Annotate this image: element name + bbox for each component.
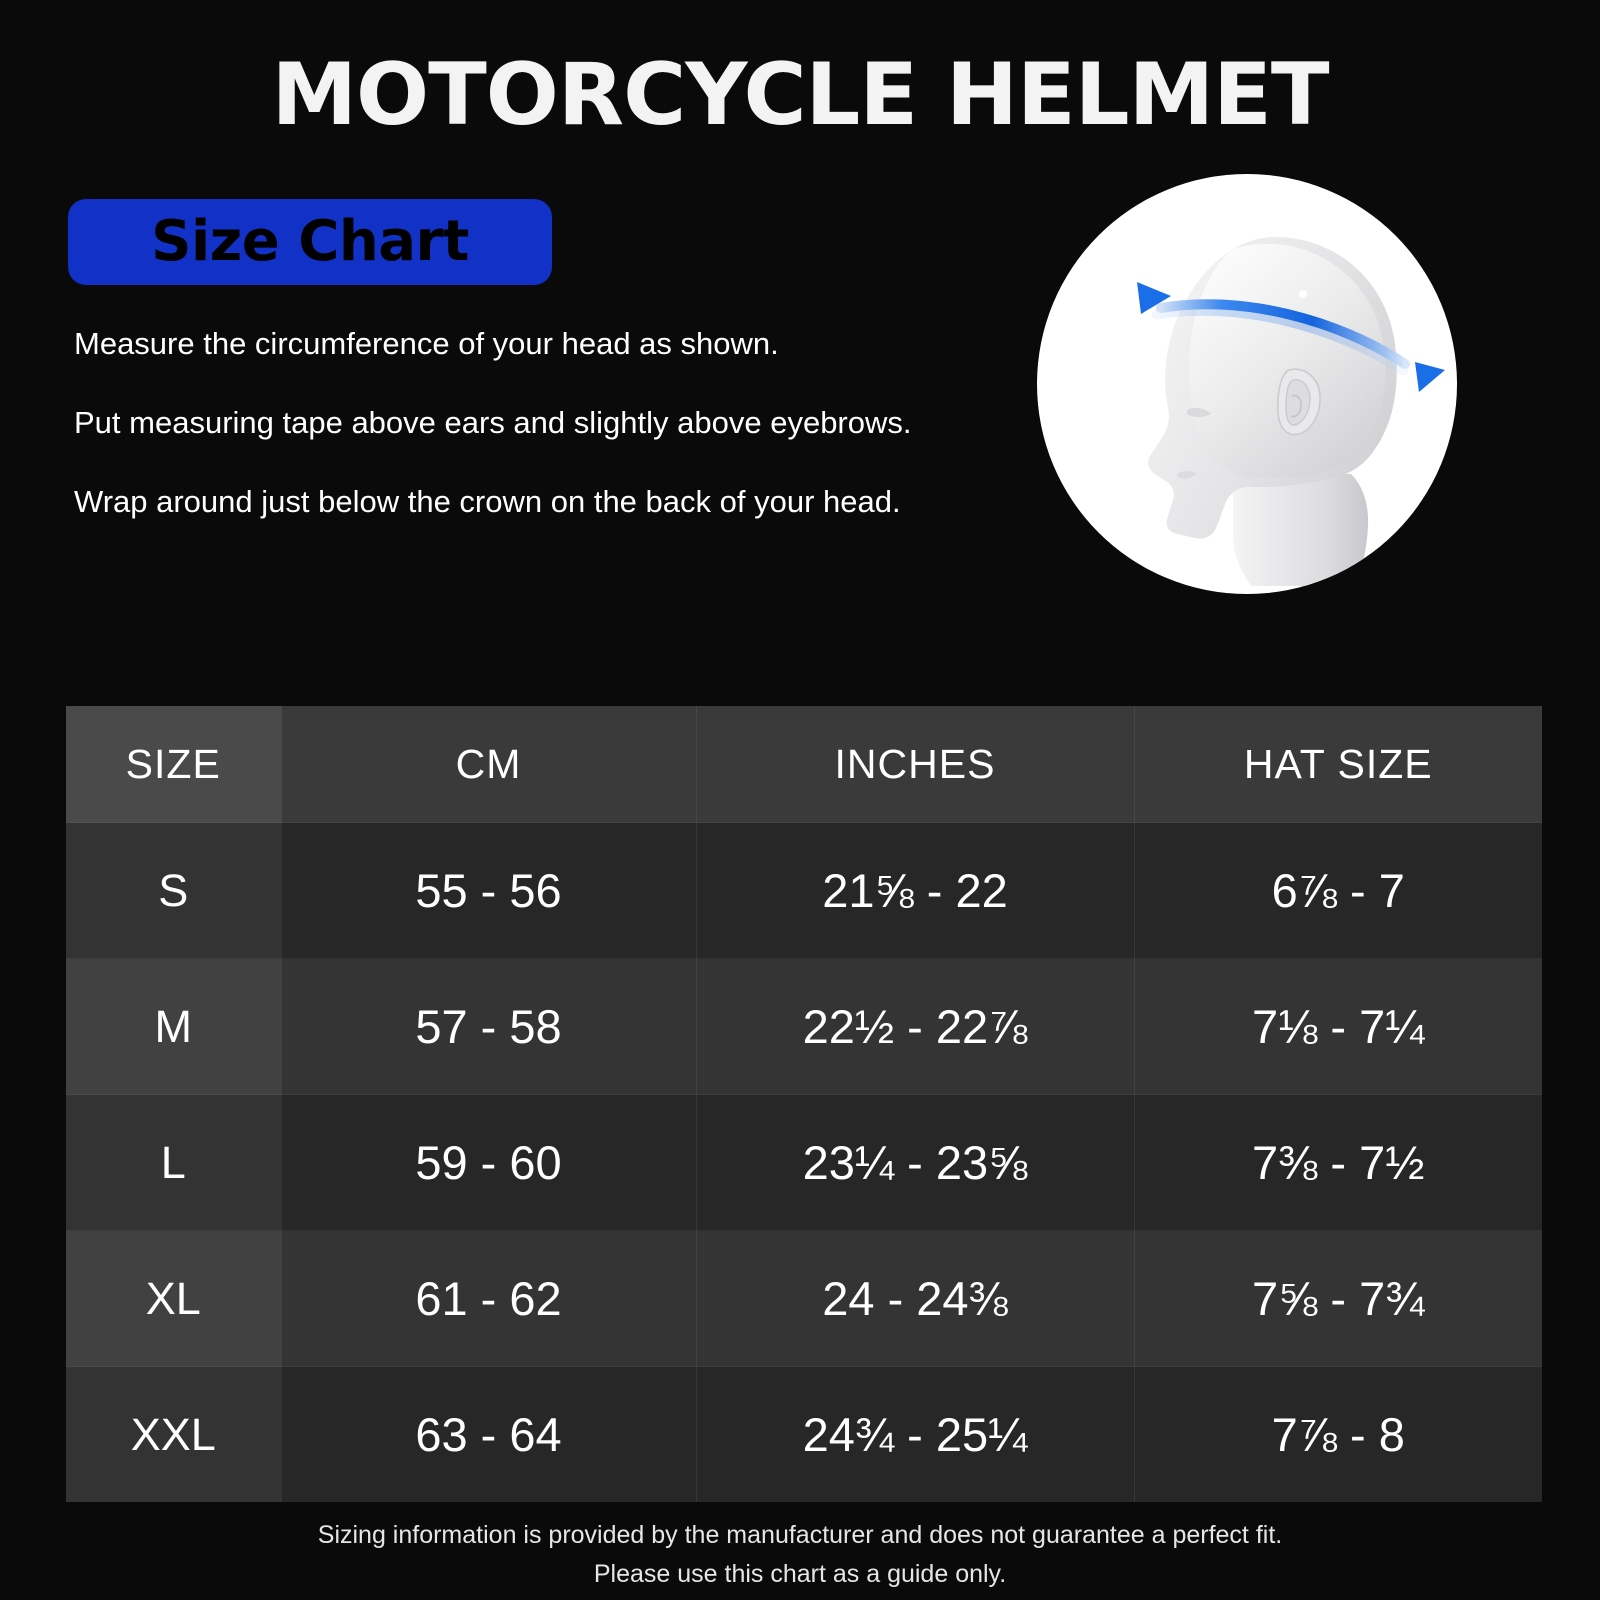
cell-size: L xyxy=(66,1095,281,1231)
size-chart-page: MOTORCYCLE HELMET Size Chart Measure the… xyxy=(0,0,1600,1600)
measuring-instructions: Measure the circumference of your head a… xyxy=(74,323,964,523)
column-header-inches: INCHES xyxy=(696,706,1134,823)
cell-cm: 55 - 56 xyxy=(281,823,696,959)
column-header-size: SIZE xyxy=(66,706,281,823)
cell-cm: 57 - 58 xyxy=(281,959,696,1095)
cell-hat: 7⅜ - 7½ xyxy=(1134,1095,1542,1231)
neck-shape xyxy=(1233,474,1368,586)
size-chart-badge: Size Chart xyxy=(68,199,552,285)
head-measurement-illustration xyxy=(1037,174,1457,594)
footer-line-2: Please use this chart as a guide only. xyxy=(0,1555,1600,1594)
cell-hat: 7⅛ - 7¼ xyxy=(1134,959,1542,1095)
size-chart-badge-label: Size Chart xyxy=(151,214,469,270)
cell-cm: 63 - 64 xyxy=(281,1367,696,1503)
instruction-line-3: Wrap around just below the crown on the … xyxy=(74,481,964,523)
head-diagram-svg xyxy=(1037,174,1457,594)
cell-cm: 59 - 60 xyxy=(281,1095,696,1231)
page-title: MOTORCYCLE HELMET xyxy=(0,50,1600,140)
cell-hat: 6⅞ - 7 xyxy=(1134,823,1542,959)
cell-size: XXL xyxy=(66,1367,281,1503)
cell-hat: 7⅝ - 7¾ xyxy=(1134,1231,1542,1367)
cell-hat: 7⅞ - 8 xyxy=(1134,1367,1542,1503)
cell-inches: 23¼ - 23⅝ xyxy=(696,1095,1134,1231)
cell-size: S xyxy=(66,823,281,959)
table-row: M 57 - 58 22½ - 22⅞ 7⅛ - 7¼ xyxy=(66,959,1542,1095)
cell-cm: 61 - 62 xyxy=(281,1231,696,1367)
table-header-row: SIZE CM INCHES HAT SIZE xyxy=(66,706,1542,823)
instruction-line-1: Measure the circumference of your head a… xyxy=(74,323,964,365)
table-row: L 59 - 60 23¼ - 23⅝ 7⅜ - 7½ xyxy=(66,1095,1542,1231)
table-row: S 55 - 56 21⅝ - 22 6⅞ - 7 xyxy=(66,823,1542,959)
instruction-line-2: Put measuring tape above ears and slight… xyxy=(74,402,964,444)
band-arrow-right xyxy=(1415,362,1445,392)
column-header-cm: CM xyxy=(281,706,696,823)
cell-inches: 24¾ - 25¼ xyxy=(696,1367,1134,1503)
cell-inches: 21⅝ - 22 xyxy=(696,823,1134,959)
table-header: SIZE CM INCHES HAT SIZE xyxy=(66,706,1542,823)
size-chart-table: SIZE CM INCHES HAT SIZE S 55 - 56 21⅝ - … xyxy=(66,706,1542,1502)
footer-disclaimer: Sizing information is provided by the ma… xyxy=(0,1516,1600,1594)
cell-size: M xyxy=(66,959,281,1095)
table-body: S 55 - 56 21⅝ - 22 6⅞ - 7 M 57 - 58 22½ … xyxy=(66,823,1542,1503)
table-row: XXL 63 - 64 24¾ - 25¼ 7⅞ - 8 xyxy=(66,1367,1542,1503)
cell-size: XL xyxy=(66,1231,281,1367)
footer-line-1: Sizing information is provided by the ma… xyxy=(0,1516,1600,1555)
column-header-hat: HAT SIZE xyxy=(1134,706,1542,823)
cell-inches: 24 - 24⅜ xyxy=(696,1231,1134,1367)
cell-inches: 22½ - 22⅞ xyxy=(696,959,1134,1095)
table-row: XL 61 - 62 24 - 24⅜ 7⅝ - 7¾ xyxy=(66,1231,1542,1367)
